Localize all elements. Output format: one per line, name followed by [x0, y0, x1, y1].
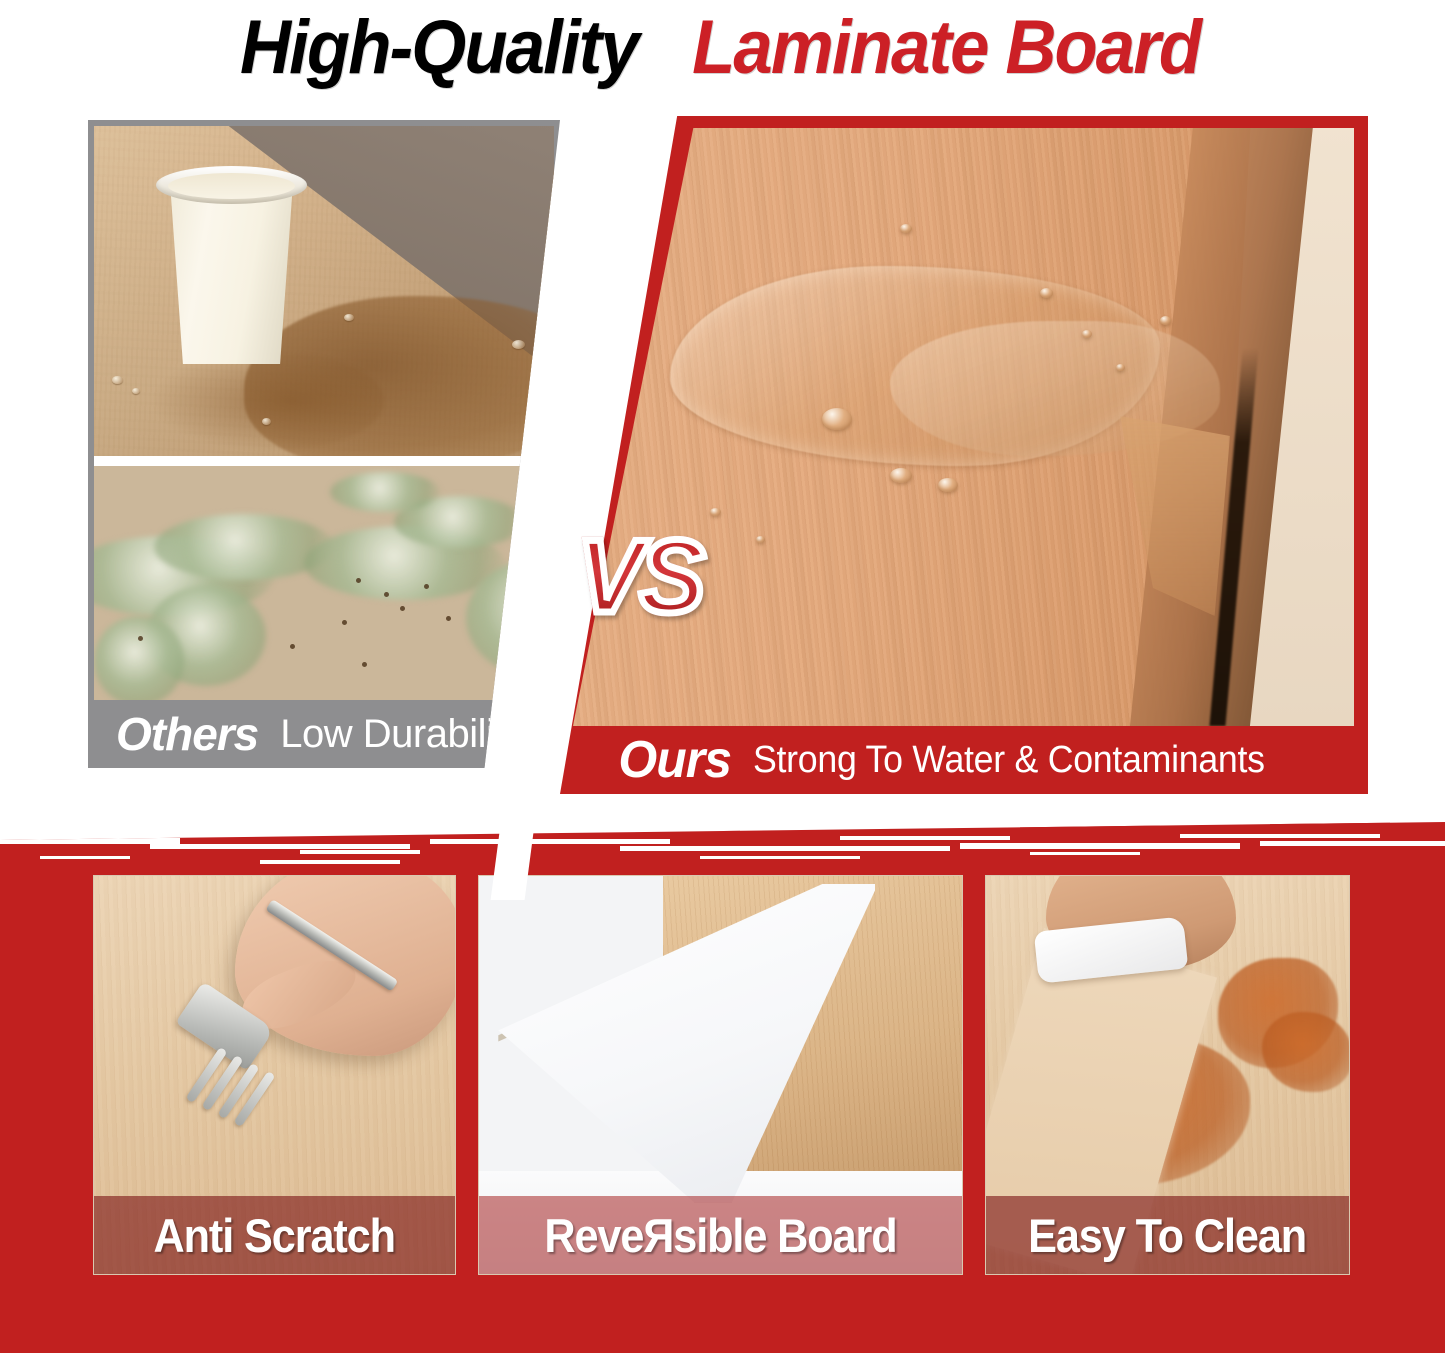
feature-label-text: Easy To Clean: [1028, 1208, 1306, 1263]
spill-stain-secondary: [154, 351, 384, 451]
feature-label-easy-to-clean: Easy To Clean: [986, 1196, 1349, 1274]
feature-tile-anti-scratch[interactable]: Anti Scratch: [93, 875, 456, 1275]
water-bead: [710, 508, 721, 516]
others-title: Others: [116, 707, 258, 761]
others-caption-bar: Others Low Durability: [88, 700, 560, 768]
feature-tiles: Anti Scratch ReveЯsible Board Easy To Cl…: [0, 875, 1445, 1353]
comparison-section: Others Low Durability Ours Stron: [0, 100, 1445, 790]
droplet: [262, 418, 271, 425]
feature-tile-easy-to-clean[interactable]: Easy To Clean: [985, 875, 1350, 1275]
photo-divider: [94, 456, 554, 466]
ours-panel: Ours Strong To Water & Contaminants: [560, 116, 1368, 794]
page-title: High-Quality Laminate Board: [0, 2, 1445, 94]
water-bead: [1116, 364, 1125, 371]
mold-patch: [94, 616, 184, 706]
ours-title: Ours: [618, 730, 731, 790]
ours-caption-bar: Ours Strong To Water & Contaminants: [560, 726, 1368, 794]
droplet: [112, 376, 123, 384]
others-panel: Others Low Durability: [88, 120, 560, 768]
paper-cup-interior: [168, 173, 295, 199]
vs-badge: VS: [577, 518, 701, 637]
water-bead: [938, 478, 958, 492]
water-bead: [900, 224, 912, 233]
feature-label-text: ReveЯsible Board: [544, 1208, 896, 1263]
water-bead: [1040, 288, 1053, 298]
page-title-part2: Laminate Board: [692, 10, 1200, 86]
feature-label-reversible-board: ReveЯsible Board: [479, 1196, 962, 1274]
photo-cup-spill-on-mdf: [94, 126, 554, 456]
others-subtitle: Low Durability: [280, 712, 524, 757]
water-bead: [756, 536, 765, 543]
droplet: [132, 388, 140, 394]
ours-subtitle: Strong To Water & Contaminants: [753, 739, 1265, 782]
water-bead: [890, 468, 912, 483]
water-bead: [1160, 316, 1171, 325]
mold-patch: [330, 472, 440, 512]
droplet: [344, 314, 354, 321]
feature-tile-reversible-board[interactable]: ReveЯsible Board: [478, 875, 963, 1275]
droplet: [512, 340, 525, 349]
photo-mold-growth: [94, 466, 554, 706]
water-bead: [1082, 330, 1092, 338]
feature-label-text: Anti Scratch: [154, 1208, 395, 1263]
page-title-part1: High-Quality: [240, 10, 638, 86]
feature-label-anti-scratch: Anti Scratch: [94, 1196, 455, 1274]
water-bead: [822, 408, 852, 430]
